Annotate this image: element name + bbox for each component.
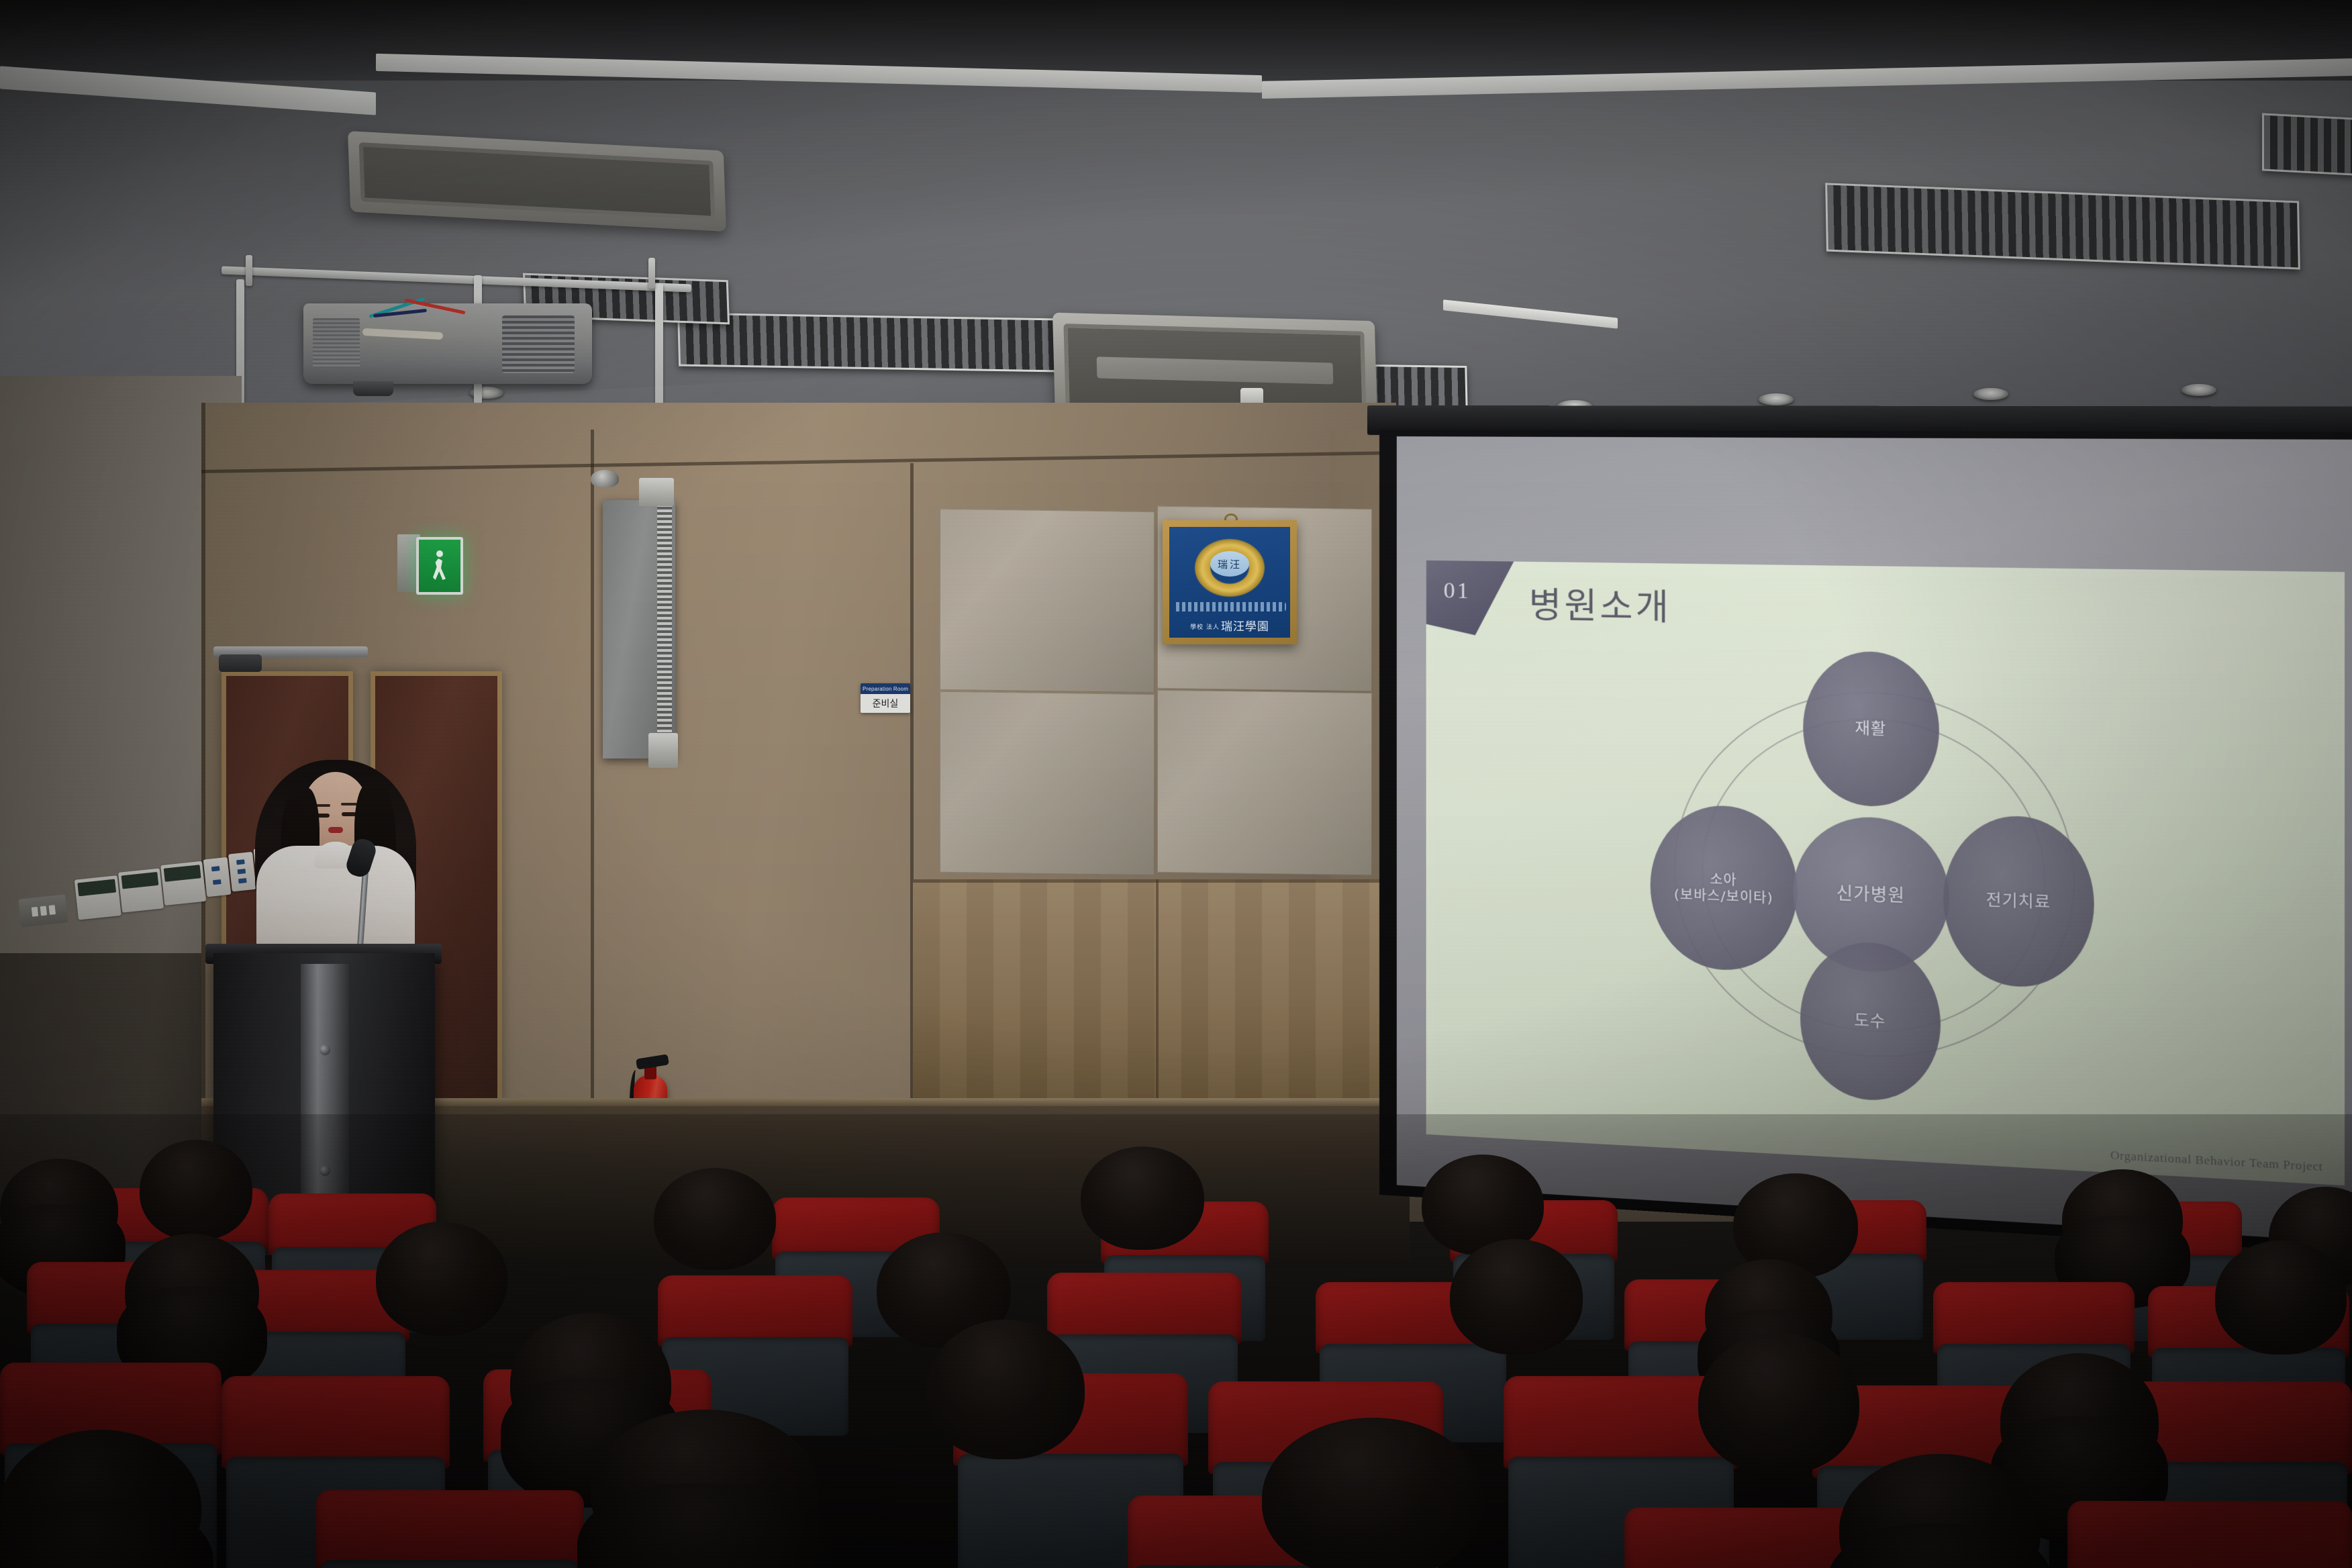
seat[interactable] [315, 1490, 584, 1568]
door-sign-english: Preparation Room [861, 683, 910, 694]
door-closer-body [219, 654, 262, 672]
audience-member-head [926, 1320, 1085, 1459]
presenter [242, 752, 430, 973]
projector-cage-bar [222, 266, 691, 293]
speaker-bracket [648, 733, 678, 768]
audience-member-head [140, 1140, 252, 1240]
dimmer-control-2[interactable] [118, 869, 164, 913]
wall-crest-field: 瑞汪 學校 法人瑞汪學園 [1169, 527, 1290, 638]
acoustic-panel [1157, 690, 1372, 875]
running-man-icon [431, 550, 448, 581]
audience-member-head [654, 1168, 776, 1270]
recessed-downlight [1973, 388, 2008, 400]
projector-lens [353, 381, 393, 396]
acoustic-panel [940, 509, 1155, 693]
projector-cable [373, 309, 427, 317]
dimmer-control-1[interactable] [75, 875, 121, 920]
projector-hanger [246, 255, 252, 286]
wood-wainscot [913, 879, 1403, 1108]
dimmer-control-3[interactable] [160, 861, 206, 905]
ceiling-light-fixture [677, 313, 1059, 373]
audience-member-head [125, 1234, 259, 1349]
speaker-grille [657, 504, 672, 754]
crest-center-text: 瑞汪 [1218, 557, 1242, 571]
audience-member-head [1081, 1146, 1204, 1250]
exit-sign-icon [416, 537, 463, 595]
podium-screw [320, 1044, 330, 1055]
screenshot-root: 瑞汪 學校 法人瑞汪學園 Preparation Room 준비실 [0, 0, 2352, 1568]
slide: 01 병원소개 재활 소아 (보바스/보이타) 신가병원 전기치료 도수 Org… [1426, 560, 2345, 1186]
projector-body [303, 303, 592, 384]
acoustic-panel [940, 691, 1155, 875]
wall-speaker [603, 500, 675, 758]
door-sign-korean: 준비실 [861, 694, 910, 713]
recessed-downlight [2182, 384, 2216, 396]
audience-area [0, 1114, 2352, 1568]
audience-member-head [1698, 1333, 1859, 1474]
ceiling-dome-sensor [591, 470, 619, 487]
crest-main-text: 瑞汪學園 [1221, 620, 1269, 634]
recessed-downlight [1759, 393, 1794, 405]
slide-section-number: 01 [1444, 578, 1471, 604]
audience-member-head [1450, 1239, 1583, 1355]
crest-caption: 學校 法人瑞汪學園 [1169, 617, 1290, 634]
projector-hanger [648, 258, 655, 289]
audience-member-head [591, 1410, 819, 1568]
door-sign-preparation-room: Preparation Room 준비실 [861, 683, 910, 713]
light-switch-1[interactable] [203, 857, 232, 897]
projector-vent [502, 315, 575, 373]
audience-member-head [2000, 1353, 2159, 1490]
audience-member-head [0, 1159, 118, 1259]
speaker-bracket [639, 478, 674, 506]
crest-wave-pattern [1173, 602, 1286, 611]
projector-cable [362, 328, 443, 340]
seat[interactable] [2067, 1501, 2352, 1568]
wall-seam [591, 430, 594, 1155]
audience-member-head [2215, 1240, 2347, 1355]
crest-prefix-text: 學校 法人 [1190, 624, 1220, 631]
wall-crest-frame: 瑞汪 學校 法人瑞汪學園 [1163, 520, 1297, 644]
audience-member-head [1262, 1418, 1483, 1568]
power-outlet[interactable] [18, 894, 68, 927]
wall-seam [201, 403, 205, 1215]
crest-center-medallion: 瑞汪 [1210, 551, 1249, 577]
slide-title: 병원소개 [1529, 577, 1672, 630]
slide-diagram: 재활 소아 (보바스/보이타) 신가병원 전기치료 도수 [1638, 647, 2110, 1110]
audience-member-head [376, 1222, 507, 1336]
audience-member-head [2062, 1169, 2183, 1270]
presenter-lips [328, 827, 343, 833]
